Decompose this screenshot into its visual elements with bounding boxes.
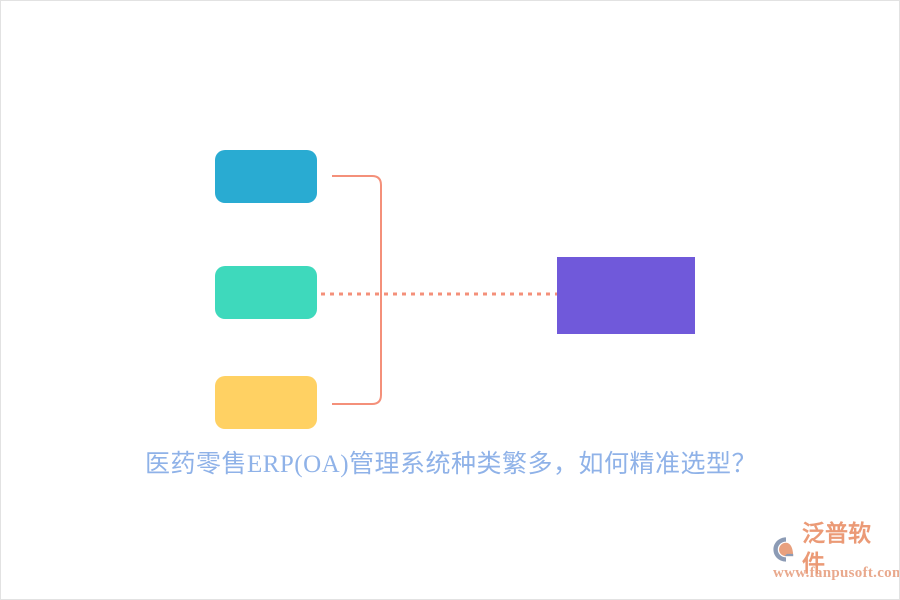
green-node[interactable] [215, 266, 317, 319]
blue-node[interactable] [215, 150, 317, 203]
connector-yellow-to-junction [332, 295, 381, 404]
flow-diagram [1, 1, 900, 600]
connector-blue-to-junction [332, 176, 381, 295]
connector-layer [1, 1, 900, 600]
fanpu-logo-icon [771, 534, 800, 564]
purple-node[interactable] [557, 257, 695, 334]
logo-row: 泛普软件 [771, 533, 891, 565]
caption-text: 医药零售ERP(OA)管理系统种类繁多，如何精准选型？ [1, 446, 900, 484]
screenshot-canvas: 医药零售ERP(OA)管理系统种类繁多，如何精准选型？ 泛普软件 www.fan… [0, 0, 900, 600]
yellow-node[interactable] [215, 376, 317, 429]
watermark: 泛普软件 www.fanpusoft.com [771, 533, 891, 585]
brand-url: www.fanpusoft.com [773, 565, 900, 582]
